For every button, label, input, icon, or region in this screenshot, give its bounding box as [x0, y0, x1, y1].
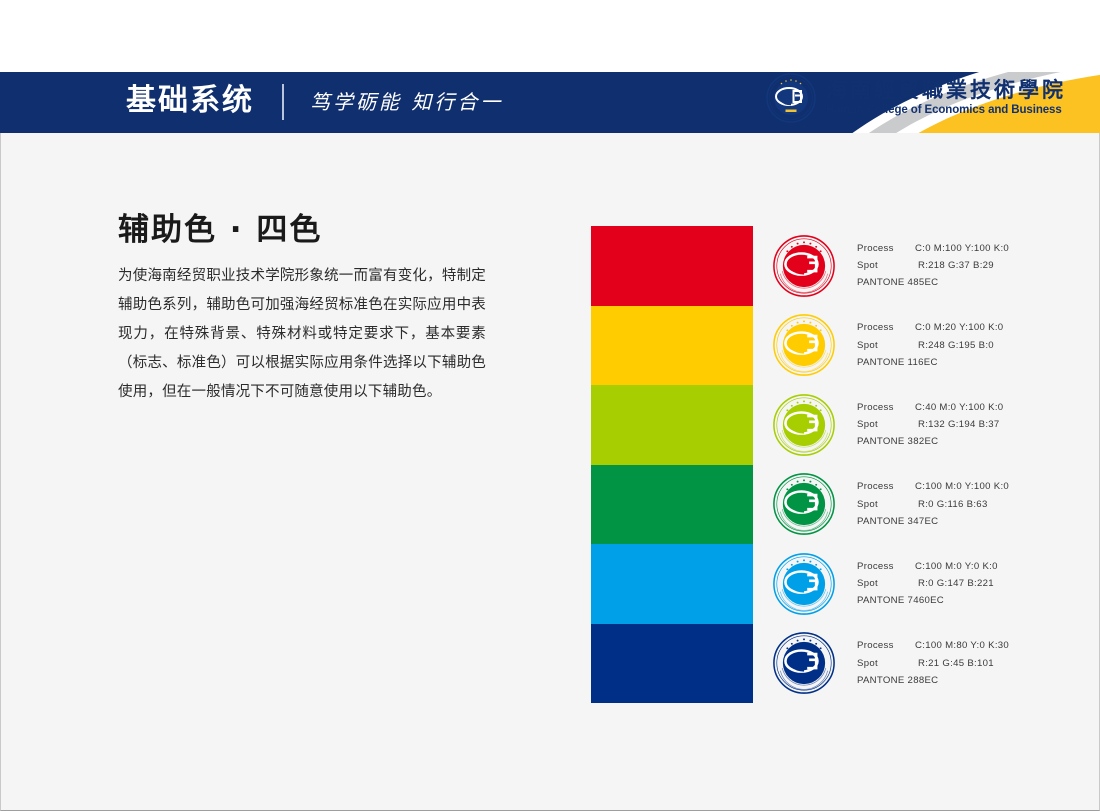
- spec-process-label: Process: [857, 478, 915, 495]
- college-seal-icon: [772, 313, 836, 377]
- spec-process-value: C:100 M:0 Y:100 K:0: [915, 481, 1009, 492]
- spec-process-label: Process: [857, 558, 915, 575]
- spec-spot-label: Spot: [857, 337, 915, 354]
- brand-name-en: Hainan College of Economics and Business: [826, 105, 1066, 117]
- color-swatch-stack: [591, 226, 753, 703]
- color-spec-text: ProcessC:0 M:100 Y:100 K:0Spot R:218 G:3…: [857, 240, 1009, 292]
- spec-pantone-value: 116EC: [905, 357, 938, 368]
- college-seal-icon: [766, 73, 816, 123]
- section-heading: 辅助色 · 四色: [118, 204, 322, 249]
- college-seal-icon: [772, 631, 836, 695]
- section-description: 为使海南经贸职业技术学院形象统一而富有变化，特制定辅助色系列，辅助色可加强海经贸…: [118, 262, 486, 407]
- color-spec-text: ProcessC:40 M:0 Y:100 K:0Spot R:132 G:19…: [857, 399, 1003, 451]
- spec-process-value: C:0 M:20 Y:100 K:0: [915, 322, 1003, 333]
- spec-pantone-value: 382EC: [905, 436, 939, 447]
- spec-spot-value: R:0 G:116 B:63: [915, 499, 988, 510]
- color-swatch-yellow-green: [591, 385, 753, 465]
- color-spec-row-yellow-green: ProcessC:40 M:0 Y:100 K:0Spot R:132 G:19…: [770, 385, 1070, 465]
- college-seal-icon: [772, 472, 836, 536]
- spec-pantone-value: 485EC: [905, 277, 939, 288]
- spec-pantone-line: PANTONE 288EC: [857, 672, 1009, 689]
- color-spec-row-yellow: ProcessC:0 M:20 Y:100 K:0Spot R:248 G:19…: [770, 306, 1070, 386]
- spec-pantone-value: 7460EC: [905, 595, 944, 606]
- spec-pantone-label: PANTONE: [857, 675, 905, 686]
- spec-process-line: ProcessC:40 M:0 Y:100 K:0: [857, 399, 1003, 416]
- spec-process-value: C:100 M:0 Y:0 K:0: [915, 561, 998, 572]
- spec-pantone-line: PANTONE 7460EC: [857, 592, 998, 609]
- spec-process-label: Process: [857, 240, 915, 257]
- school-motto: 笃学砺能 知行合一: [310, 87, 503, 117]
- color-spec-text: ProcessC:100 M:0 Y:100 K:0Spot R:0 G:116…: [857, 478, 1009, 530]
- color-spec-row-green: ProcessC:100 M:0 Y:100 K:0Spot R:0 G:116…: [770, 465, 1070, 545]
- college-seal-icon: [772, 393, 836, 457]
- spec-spot-label: Spot: [857, 496, 915, 513]
- spec-process-label: Process: [857, 319, 915, 336]
- top-white-margin: [0, 0, 1100, 72]
- color-swatch-green: [591, 465, 753, 545]
- spec-spot-line: Spot R:218 G:37 B:29: [857, 257, 1009, 274]
- spec-pantone-line: PANTONE 485EC: [857, 274, 1009, 291]
- college-seal-icon: [772, 552, 836, 616]
- spec-spot-line: Spot R:21 G:45 B:101: [857, 655, 1009, 672]
- spec-pantone-value: 347EC: [905, 516, 939, 527]
- spec-process-value: C:0 M:100 Y:100 K:0: [915, 243, 1009, 254]
- spec-process-line: ProcessC:0 M:100 Y:100 K:0: [857, 240, 1009, 257]
- color-spec-text: ProcessC:100 M:80 Y:0 K:30Spot R:21 G:45…: [857, 637, 1009, 689]
- spec-spot-line: Spot R:0 G:147 B:221: [857, 575, 998, 592]
- spec-spot-label: Spot: [857, 655, 915, 672]
- header-divider: [282, 84, 284, 120]
- brand-name-cn: 海南經貿職業技術學院: [826, 79, 1066, 100]
- spec-pantone-label: PANTONE: [857, 436, 905, 447]
- spec-process-line: ProcessC:100 M:0 Y:0 K:0: [857, 558, 998, 575]
- color-swatch-yellow: [591, 306, 753, 386]
- spec-spot-label: Spot: [857, 416, 915, 433]
- spec-spot-value: R:21 G:45 B:101: [915, 658, 994, 669]
- spec-pantone-label: PANTONE: [857, 516, 905, 527]
- spec-spot-label: Spot: [857, 257, 915, 274]
- color-swatch-navy-blue: [591, 624, 753, 704]
- spec-process-label: Process: [857, 399, 915, 416]
- college-seal-icon: [772, 234, 836, 298]
- spec-spot-value: R:132 G:194 B:37: [915, 419, 1000, 430]
- spec-process-line: ProcessC:100 M:80 Y:0 K:30: [857, 637, 1009, 654]
- spec-spot-line: Spot R:132 G:194 B:37: [857, 416, 1003, 433]
- spec-spot-value: R:218 G:37 B:29: [915, 260, 994, 271]
- color-spec-row-red: ProcessC:0 M:100 Y:100 K:0Spot R:218 G:3…: [770, 226, 1070, 306]
- spec-pantone-label: PANTONE: [857, 277, 905, 288]
- brand-names: 海南經貿職業技術學院 Hainan College of Economics a…: [826, 79, 1066, 117]
- spec-spot-line: Spot R:248 G:195 B:0: [857, 337, 1003, 354]
- color-swatch-red: [591, 226, 753, 306]
- spec-process-line: ProcessC:100 M:0 Y:100 K:0: [857, 478, 1009, 495]
- color-spec-row-cyan-blue: ProcessC:100 M:0 Y:0 K:0Spot R:0 G:147 B…: [770, 544, 1070, 624]
- color-swatch-cyan-blue: [591, 544, 753, 624]
- spec-spot-value: R:0 G:147 B:221: [915, 578, 994, 589]
- spec-pantone-label: PANTONE: [857, 357, 905, 368]
- spec-pantone-value: 288EC: [905, 675, 939, 686]
- spec-pantone-line: PANTONE 382EC: [857, 433, 1003, 450]
- spec-spot-line: Spot R:0 G:116 B:63: [857, 496, 1009, 513]
- spec-spot-label: Spot: [857, 575, 915, 592]
- spec-spot-value: R:248 G:195 B:0: [915, 340, 994, 351]
- spec-pantone-label: PANTONE: [857, 595, 905, 606]
- color-spec-text: ProcessC:0 M:20 Y:100 K:0Spot R:248 G:19…: [857, 319, 1003, 371]
- spec-process-line: ProcessC:0 M:20 Y:100 K:0: [857, 319, 1003, 336]
- page-title: 基础系统: [126, 80, 254, 122]
- spec-pantone-line: PANTONE 116EC: [857, 354, 1003, 371]
- color-spec-text: ProcessC:100 M:0 Y:0 K:0Spot R:0 G:147 B…: [857, 558, 998, 610]
- spec-process-value: C:100 M:80 Y:0 K:30: [915, 640, 1009, 651]
- color-spec-row-navy-blue: ProcessC:100 M:80 Y:0 K:30Spot R:21 G:45…: [770, 624, 1070, 704]
- spec-process-value: C:40 M:0 Y:100 K:0: [915, 402, 1003, 413]
- brand-lockup: 海南經貿職業技術學院 Hainan College of Economics a…: [766, 73, 1066, 123]
- spec-pantone-line: PANTONE 347EC: [857, 513, 1009, 530]
- color-spec-list: ProcessC:0 M:100 Y:100 K:0Spot R:218 G:3…: [770, 226, 1070, 703]
- spec-process-label: Process: [857, 637, 915, 654]
- brand-guideline-page: 基础系统 笃学砺能 知行合一 海南經貿職業技術學院 Hainan College…: [0, 0, 1100, 811]
